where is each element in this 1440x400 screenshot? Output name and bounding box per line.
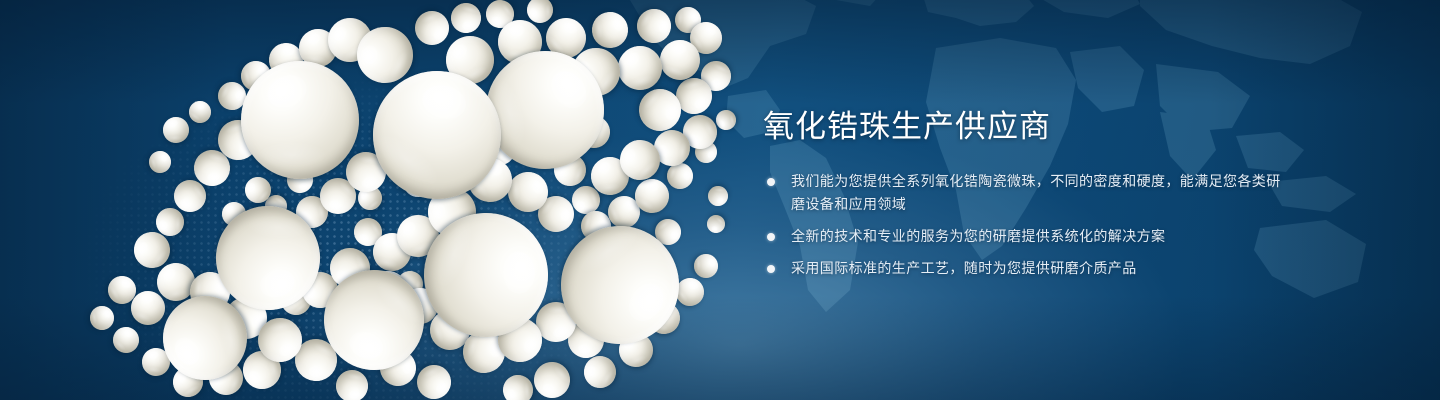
bullet-dot-icon bbox=[767, 178, 775, 186]
bullet-item-3: 采用国际标准的生产工艺，随时为您提供研磨介质产品 bbox=[763, 257, 1283, 280]
banner-headline: 氧化锆珠生产供应商 bbox=[763, 108, 1283, 146]
bullet-dot-icon bbox=[767, 233, 775, 241]
promo-banner: 氧化锆珠生产供应商 我们能为您提供全系列氧化锆陶瓷微珠，不同的密度和硬度，能满足… bbox=[0, 0, 1440, 400]
bullet-text: 全新的技术和专业的服务为您的研磨提供系统化的解决方案 bbox=[791, 225, 1283, 248]
bullet-text: 我们能为您提供全系列氧化锆陶瓷微珠，不同的密度和硬度，能满足您各类研磨设备和应用… bbox=[791, 170, 1283, 216]
bullet-item-1: 我们能为您提供全系列氧化锆陶瓷微珠，不同的密度和硬度，能满足您各类研磨设备和应用… bbox=[763, 170, 1283, 216]
bullet-item-2: 全新的技术和专业的服务为您的研磨提供系统化的解决方案 bbox=[763, 225, 1283, 248]
bullet-text: 采用国际标准的生产工艺，随时为您提供研磨介质产品 bbox=[791, 257, 1283, 280]
banner-bullet-list: 我们能为您提供全系列氧化锆陶瓷微珠，不同的密度和硬度，能满足您各类研磨设备和应用… bbox=[763, 170, 1283, 280]
bullet-dot-icon bbox=[767, 265, 775, 273]
banner-copy: 氧化锆珠生产供应商 我们能为您提供全系列氧化锆陶瓷微珠，不同的密度和硬度，能满足… bbox=[763, 108, 1283, 280]
